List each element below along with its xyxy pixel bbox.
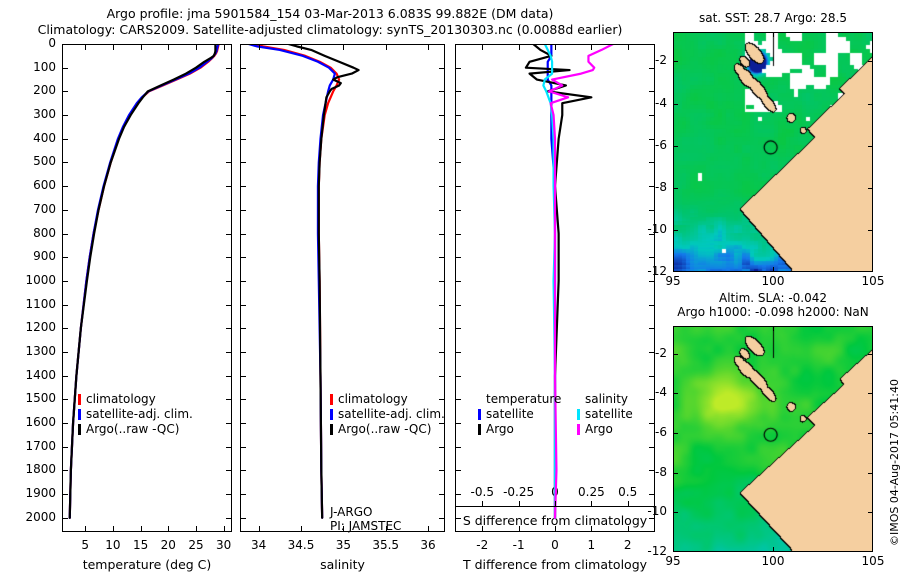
depth-tick <box>226 281 231 282</box>
legend-label: climatology <box>86 392 156 407</box>
sla-lat-tick-label: -4 <box>633 385 667 399</box>
title-line-1: Argo profile: jma 5901584_154 03-Mar-201… <box>107 6 554 21</box>
depth-tick <box>241 494 246 495</box>
depth-tick <box>63 470 68 471</box>
depth-tick <box>226 257 231 258</box>
depth-tick <box>439 352 444 353</box>
x-tick <box>196 45 197 50</box>
depth-tick-label: 900 <box>0 249 56 263</box>
s-difference-tick <box>519 501 520 506</box>
x-tick <box>196 526 197 531</box>
s-difference-tick <box>555 501 556 506</box>
depth-tick <box>456 423 461 424</box>
x-tick <box>555 526 556 531</box>
sla-lon-tick-label: 105 <box>843 554 900 568</box>
depth-tick <box>439 305 444 306</box>
map-lat-tick <box>868 393 873 394</box>
depth-tick-label: 300 <box>0 107 56 121</box>
depth-tick <box>226 115 231 116</box>
depth-tick <box>439 328 444 329</box>
depth-tick <box>649 281 654 282</box>
depth-tick <box>456 352 461 353</box>
legend-swatch-s-satellite <box>577 409 580 420</box>
depth-tick <box>649 115 654 116</box>
depth-tick <box>649 518 654 519</box>
map-lat-tick <box>673 433 678 434</box>
depth-tick <box>226 447 231 448</box>
depth-tick <box>439 376 444 377</box>
depth-tick <box>241 447 246 448</box>
depth-tick <box>226 186 231 187</box>
depth-tick-label: 100 <box>0 60 56 74</box>
map-lat-tick <box>673 61 678 62</box>
depth-tick <box>439 68 444 69</box>
x-tick <box>519 45 520 50</box>
x-tick <box>628 45 629 50</box>
depth-tick <box>649 494 654 495</box>
map-lat-tick <box>868 551 873 552</box>
map-lon-tick <box>773 326 774 331</box>
x-tick <box>343 45 344 50</box>
sla-map[interactable] <box>673 326 873 552</box>
difference-curves <box>456 45 654 531</box>
legend-group-title: salinity <box>577 392 633 407</box>
x-tick <box>113 45 114 50</box>
legend-swatch-satellite-adj <box>330 409 333 420</box>
depth-tick <box>226 44 231 45</box>
legend-swatch-climatology <box>78 394 81 405</box>
depth-tick <box>241 186 246 187</box>
salinity-annotation-pi: PI: JAMSTEC <box>330 519 401 533</box>
depth-tick <box>649 423 654 424</box>
depth-tick <box>439 281 444 282</box>
x-tick <box>259 45 260 50</box>
legend-label: Argo(..raw -QC) <box>86 422 179 437</box>
depth-tick <box>456 257 461 258</box>
depth-tick <box>226 352 231 353</box>
sla-title-line-1: Altim. SLA: -0.042 <box>719 291 827 305</box>
depth-tick-label: 400 <box>0 131 56 145</box>
x-tick <box>628 526 629 531</box>
depth-tick <box>649 44 654 45</box>
depth-tick <box>241 305 246 306</box>
depth-tick-label: 1200 <box>0 320 56 334</box>
legend-item: satellite-adj. clim. <box>78 407 193 422</box>
x-tick <box>224 526 225 531</box>
x-tick <box>428 526 429 531</box>
depth-tick <box>649 328 654 329</box>
depth-tick <box>649 210 654 211</box>
depth-tick <box>649 139 654 140</box>
sla-lat-tick-label: -6 <box>633 425 667 439</box>
temperature-legend: climatology satellite-adj. clim. Argo(..… <box>78 392 193 437</box>
depth-tick <box>241 281 246 282</box>
map-lat-tick <box>868 230 873 231</box>
legend-title-temperature: temperature <box>486 392 561 407</box>
map-lat-tick <box>673 512 678 513</box>
legend-item: satellite <box>577 407 633 422</box>
depth-tick <box>63 44 68 45</box>
map-lat-tick <box>673 271 678 272</box>
sst-lon-tick-label: 100 <box>743 274 803 288</box>
legend-item: climatology <box>78 392 193 407</box>
legend-label: satellite <box>585 407 633 422</box>
depth-tick <box>456 328 461 329</box>
depth-tick <box>649 447 654 448</box>
depth-tick <box>63 234 68 235</box>
map-lat-tick <box>868 473 873 474</box>
salinity-axis-title: salinity <box>240 557 445 572</box>
depth-tick <box>63 423 68 424</box>
depth-tick-label: 2000 <box>0 510 56 524</box>
depth-tick <box>439 399 444 400</box>
depth-tick <box>649 68 654 69</box>
legend-label: satellite-adj. clim. <box>338 407 445 422</box>
depth-tick <box>226 305 231 306</box>
difference-legend-temperature: temperature satellite Argo <box>478 392 561 437</box>
map-lat-tick <box>673 230 678 231</box>
depth-tick <box>241 328 246 329</box>
legend-label: Argo(..raw -QC) <box>338 422 431 437</box>
depth-tick <box>456 399 461 400</box>
depth-tick <box>649 305 654 306</box>
depth-tick-label: 1700 <box>0 439 56 453</box>
depth-tick-label: 1300 <box>0 344 56 358</box>
sla-field-canvas <box>674 327 872 551</box>
legend-swatch-s-argo <box>577 424 580 435</box>
depth-tick <box>439 186 444 187</box>
s-difference-tick <box>628 501 629 506</box>
depth-tick-label: 1900 <box>0 486 56 500</box>
depth-tick <box>241 210 246 211</box>
map-lat-tick <box>868 433 873 434</box>
depth-tick <box>226 399 231 400</box>
sla-title-line-2: Argo h1000: -0.098 h2000: NaN <box>677 305 869 319</box>
legend-label: satellite-adj. clim. <box>86 407 193 422</box>
x-tick <box>482 45 483 50</box>
depth-tick <box>439 139 444 140</box>
x-tick <box>168 45 169 50</box>
copyright-label: ©IMOS 04-Aug-2017 05:41:40 <box>888 379 900 546</box>
depth-tick <box>226 328 231 329</box>
depth-tick <box>241 115 246 116</box>
depth-tick <box>63 376 68 377</box>
depth-tick <box>63 494 68 495</box>
map-lat-tick <box>868 354 873 355</box>
depth-tick-label: 700 <box>0 202 56 216</box>
map-lat-tick <box>673 188 678 189</box>
depth-tick <box>649 186 654 187</box>
map-lon-tick <box>673 326 674 331</box>
sst-lon-tick-label: 105 <box>843 274 900 288</box>
sst-field-canvas <box>674 33 872 271</box>
depth-tick <box>649 162 654 163</box>
depth-tick <box>241 470 246 471</box>
x-tick <box>386 45 387 50</box>
depth-tick <box>63 399 68 400</box>
x-tick <box>168 526 169 531</box>
legend-swatch-satellite-adj <box>78 409 81 420</box>
sla-map-title: Altim. SLA: -0.042 Argo h1000: -0.098 h2… <box>673 291 873 319</box>
difference-legend-salinity: salinity satellite Argo <box>577 392 633 437</box>
map-lat-tick <box>868 146 873 147</box>
depth-tick <box>226 68 231 69</box>
depth-tick <box>226 494 231 495</box>
depth-tick <box>241 376 246 377</box>
legend-label: satellite <box>486 407 534 422</box>
depth-tick <box>456 186 461 187</box>
depth-tick <box>456 305 461 306</box>
legend-swatch-t-satellite <box>478 409 481 420</box>
map-lat-tick <box>868 512 873 513</box>
sst-lat-tick-label: -4 <box>633 96 667 110</box>
x-tick <box>591 45 592 50</box>
sst-map[interactable] <box>673 32 873 272</box>
depth-tick <box>439 115 444 116</box>
sst-map-title: sat. SST: 28.7 Argo: 28.5 <box>673 11 873 25</box>
depth-tick <box>241 257 246 258</box>
map-lat-tick <box>868 104 873 105</box>
x-tick <box>555 45 556 50</box>
depth-tick-label: 200 <box>0 83 56 97</box>
salinity-annotation-program: J-ARGO <box>330 505 372 519</box>
depth-tick <box>456 139 461 140</box>
s-difference-tick <box>591 501 592 506</box>
depth-tick <box>456 376 461 377</box>
sst-lat-tick-label: -12 <box>633 264 667 278</box>
map-lon-tick <box>773 32 774 37</box>
legend-item: Argo <box>577 422 633 437</box>
x-tick <box>259 526 260 531</box>
depth-tick-label: 800 <box>0 226 56 240</box>
depth-tick-label: 1600 <box>0 415 56 429</box>
depth-tick <box>649 352 654 353</box>
depth-tick <box>63 91 68 92</box>
page-title: Argo profile: jma 5901584_154 03-Mar-201… <box>0 6 660 38</box>
depth-tick <box>63 257 68 258</box>
depth-tick <box>241 68 246 69</box>
depth-tick <box>226 234 231 235</box>
sst-lat-tick-label: -2 <box>633 53 667 67</box>
depth-tick <box>456 162 461 163</box>
depth-tick <box>456 281 461 282</box>
x-tick <box>301 45 302 50</box>
depth-tick <box>226 470 231 471</box>
depth-tick <box>439 470 444 471</box>
depth-tick <box>439 447 444 448</box>
depth-tick <box>63 518 68 519</box>
legend-title-salinity: salinity <box>585 392 628 407</box>
legend-label: Argo <box>486 422 514 437</box>
map-lon-tick <box>773 547 774 552</box>
x-tick <box>141 45 142 50</box>
depth-tick <box>63 68 68 69</box>
legend-swatch-argo <box>78 424 81 435</box>
depth-tick <box>456 210 461 211</box>
x-tick <box>386 526 387 531</box>
depth-tick <box>63 186 68 187</box>
depth-tick-label: 500 <box>0 154 56 168</box>
x-tick <box>343 526 344 531</box>
title-line-2: Climatology: CARS2009. Satellite-adjuste… <box>38 22 623 37</box>
depth-tick <box>456 234 461 235</box>
depth-tick <box>226 139 231 140</box>
legend-label: climatology <box>338 392 408 407</box>
legend-swatch-argo <box>330 424 333 435</box>
depth-tick <box>456 470 461 471</box>
depth-tick <box>649 470 654 471</box>
legend-item: Argo(..raw -QC) <box>330 422 445 437</box>
depth-tick <box>63 352 68 353</box>
legend-item: Argo <box>478 422 561 437</box>
x-tick <box>85 45 86 50</box>
legend-item: satellite-adj. clim. <box>330 407 445 422</box>
depth-tick-label: 1000 <box>0 273 56 287</box>
depth-tick <box>439 494 444 495</box>
depth-tick <box>241 399 246 400</box>
t-difference-axis-title: T difference from climatology <box>443 557 667 572</box>
depth-tick <box>439 518 444 519</box>
depth-tick <box>241 352 246 353</box>
depth-tick <box>241 44 246 45</box>
depth-tick <box>649 376 654 377</box>
depth-tick <box>63 328 68 329</box>
depth-tick <box>439 234 444 235</box>
legend-swatch-climatology <box>330 394 333 405</box>
map-lon-tick <box>872 326 873 331</box>
depth-tick <box>649 399 654 400</box>
sla-lat-tick-label: -8 <box>633 465 667 479</box>
depth-tick-label: 1800 <box>0 462 56 476</box>
depth-tick <box>241 234 246 235</box>
s-difference-axis-line <box>455 506 655 507</box>
depth-tick-label: 1400 <box>0 368 56 382</box>
depth-tick <box>226 376 231 377</box>
map-lat-tick <box>868 271 873 272</box>
legend-item: Argo(..raw -QC) <box>78 422 193 437</box>
depth-tick <box>63 210 68 211</box>
x-tick <box>519 526 520 531</box>
depth-tick-label: 600 <box>0 178 56 192</box>
legend-swatch-t-argo <box>478 424 481 435</box>
depth-tick <box>439 44 444 45</box>
legend-item: climatology <box>330 392 445 407</box>
x-tick <box>301 526 302 531</box>
x-tick <box>141 526 142 531</box>
depth-tick <box>226 162 231 163</box>
x-tick <box>428 45 429 50</box>
depth-tick <box>226 518 231 519</box>
depth-tick <box>456 44 461 45</box>
temperature-curves <box>63 45 231 531</box>
map-lon-tick <box>773 267 774 272</box>
depth-tick <box>63 115 68 116</box>
depth-tick <box>649 234 654 235</box>
salinity-legend: climatology satellite-adj. clim. Argo(..… <box>330 392 445 437</box>
map-lon-tick <box>673 32 674 37</box>
map-lat-tick <box>673 473 678 474</box>
depth-tick <box>456 447 461 448</box>
map-lat-tick <box>673 354 678 355</box>
depth-tick <box>63 281 68 282</box>
s-difference-tick <box>482 501 483 506</box>
depth-tick-label: 1100 <box>0 297 56 311</box>
x-tick <box>224 45 225 50</box>
map-lat-tick <box>673 393 678 394</box>
depth-tick <box>241 518 246 519</box>
depth-tick <box>456 518 461 519</box>
depth-tick <box>439 162 444 163</box>
depth-tick-label: 1500 <box>0 391 56 405</box>
map-lat-tick <box>868 61 873 62</box>
depth-tick <box>226 91 231 92</box>
map-lat-tick <box>673 104 678 105</box>
depth-tick <box>439 257 444 258</box>
sla-lat-tick-label: -12 <box>633 544 667 558</box>
map-lon-tick <box>872 32 873 37</box>
temperature-axis-title: temperature (deg C) <box>62 557 232 572</box>
depth-tick-label: 0 <box>0 36 56 50</box>
x-tick <box>482 526 483 531</box>
x-tick <box>591 526 592 531</box>
salinity-tick-label: 36 <box>398 538 458 552</box>
salinity-curves <box>241 45 444 531</box>
sst-lat-tick-label: -6 <box>633 138 667 152</box>
depth-tick <box>63 447 68 448</box>
depth-tick <box>439 210 444 211</box>
legend-group-title: temperature <box>478 392 561 407</box>
depth-tick <box>456 494 461 495</box>
depth-tick <box>226 210 231 211</box>
depth-tick <box>439 91 444 92</box>
depth-tick <box>241 91 246 92</box>
depth-tick <box>439 423 444 424</box>
depth-tick <box>241 162 246 163</box>
depth-tick <box>63 139 68 140</box>
depth-tick <box>456 68 461 69</box>
depth-tick <box>63 305 68 306</box>
legend-item: satellite <box>478 407 561 422</box>
map-lat-tick <box>673 551 678 552</box>
sla-lon-tick-label: 100 <box>743 554 803 568</box>
depth-tick <box>456 115 461 116</box>
x-tick <box>85 526 86 531</box>
depth-tick <box>241 139 246 140</box>
map-lat-tick <box>868 188 873 189</box>
x-tick <box>113 526 114 531</box>
depth-tick <box>456 91 461 92</box>
legend-label: Argo <box>585 422 613 437</box>
depth-tick <box>649 91 654 92</box>
map-lat-tick <box>673 146 678 147</box>
depth-tick <box>241 423 246 424</box>
depth-tick <box>226 423 231 424</box>
depth-tick <box>649 257 654 258</box>
depth-tick <box>63 162 68 163</box>
